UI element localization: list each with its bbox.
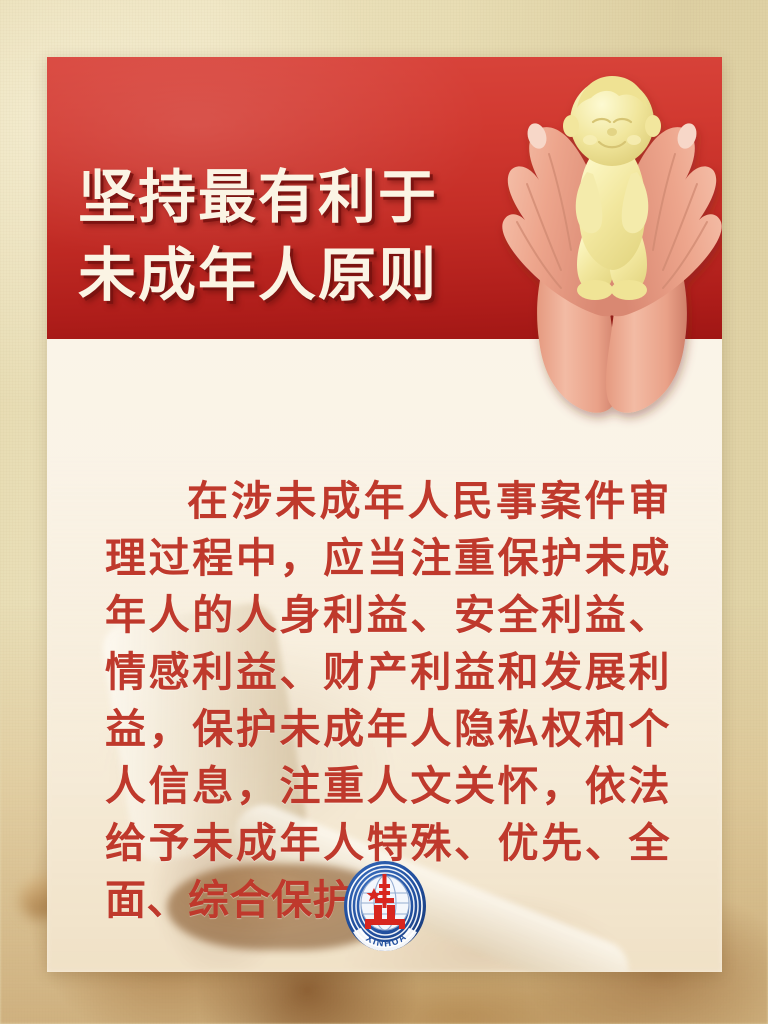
poster-root: 坚持最有利于 未成年人原则 xyxy=(0,0,768,1024)
content-card: 坚持最有利于 未成年人原则 xyxy=(47,57,722,972)
xinhua-logo: XINHUA xyxy=(341,858,429,954)
page-title: 坚持最有利于 未成年人原则 xyxy=(78,158,438,314)
